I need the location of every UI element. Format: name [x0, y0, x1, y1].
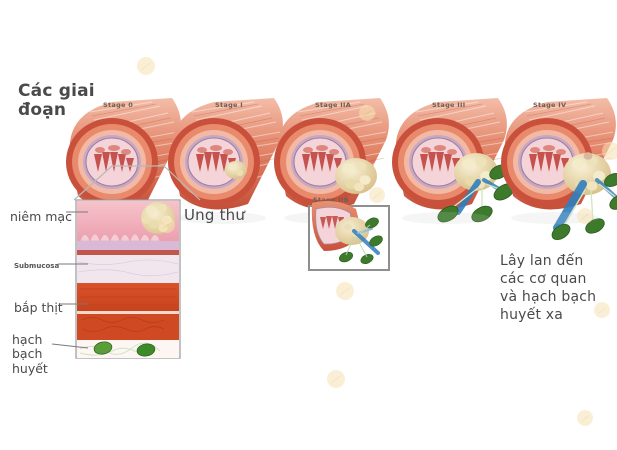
cross-section-connector [72, 162, 202, 202]
cross-section-leader-lines [0, 196, 90, 366]
stage-illustration-4 [495, 96, 617, 246]
watermark-dot [577, 410, 593, 426]
stage-iib-inset-box [308, 205, 390, 271]
watermark-dot [137, 57, 155, 75]
watermark-dot [369, 187, 385, 203]
watermark-dot [327, 370, 345, 388]
stage-iib-illustration [310, 207, 384, 265]
spread-note: Lây lan đếncác cơ quanvà hạch bạchhuyết … [500, 253, 596, 325]
watermark-dot [577, 208, 593, 224]
watermark-dot [159, 217, 175, 233]
stage-label-2a: Stage IIA [315, 101, 351, 109]
tumor-label: Ung thư [184, 207, 245, 224]
watermark-dot [594, 302, 610, 318]
tumor-mass [225, 161, 247, 179]
stage-label-0: Stage 0 [103, 101, 133, 109]
stage-label-1: Stage I [215, 101, 243, 109]
spread-note-line-1: Lây lan đến [500, 253, 596, 271]
spread-note-line-2: các cơ quan [500, 271, 596, 289]
watermark-dot [359, 105, 375, 121]
spread-note-line-3: và hạch bạch [500, 289, 596, 307]
watermark-dot [336, 282, 354, 300]
watermark-dot [602, 142, 617, 160]
spread-note-line-4: huyết xa [500, 307, 596, 325]
stage-label-3: Stage III [432, 101, 465, 109]
stage-label-4: Stage IV [533, 101, 566, 109]
